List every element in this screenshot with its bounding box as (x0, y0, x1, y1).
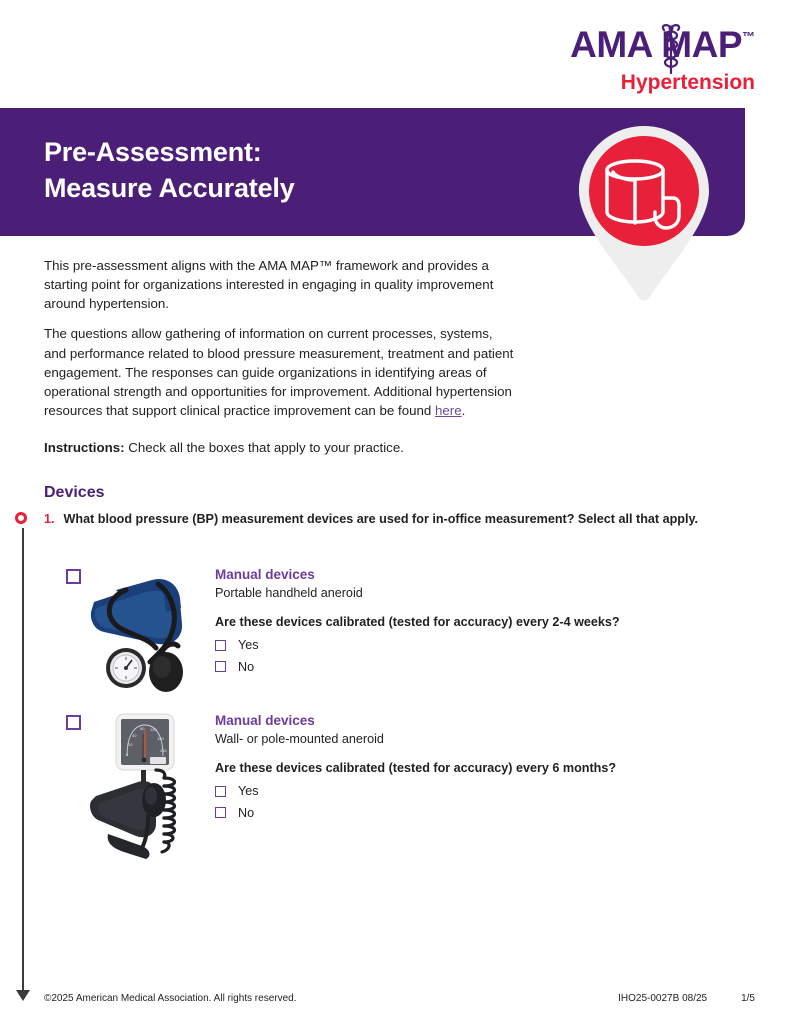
question-1: 1. What blood pressure (BP) measurement … (44, 512, 754, 526)
device-checkbox[interactable] (66, 569, 81, 584)
yes-checkbox[interactable] (215, 640, 226, 651)
intro-paragraph-1: This pre-assessment aligns with the AMA … (44, 256, 516, 313)
device-subtitle: Portable handheld aneroid (215, 585, 756, 601)
instructions-line: Instructions: Check all the boxes that a… (44, 438, 544, 457)
svg-text:20: 20 (128, 742, 133, 747)
question-1-number: 1. (44, 512, 55, 526)
logo-inner: AMA MAP™ Hypertension (535, 26, 755, 96)
device-option-yes[interactable]: Yes (215, 639, 756, 652)
svg-text:40: 40 (132, 733, 137, 738)
intro-paragraph-2: The questions allow gathering of informa… (44, 324, 516, 420)
question-1-text: What blood pressure (BP) measurement dev… (64, 512, 699, 526)
portable-handheld-aneroid-photo (86, 566, 198, 696)
device-details: Manual devices Wall- or pole-mounted ane… (215, 712, 756, 819)
device-subtitle: Wall- or pole-mounted aneroid (215, 731, 756, 747)
svg-text:180: 180 (157, 736, 164, 741)
logo-subtitle: Hypertension (621, 72, 755, 93)
device-title: Manual devices (215, 713, 756, 729)
device-calibration-question: Are these devices calibrated (tested for… (215, 760, 756, 776)
yes-label: Yes (238, 639, 259, 652)
bp-cuff-map-pin-icon (569, 124, 719, 304)
device-calibration-question: Are these devices calibrated (tested for… (215, 614, 756, 630)
no-checkbox[interactable] (215, 661, 226, 672)
footer-copyright: ©2025 American Medical Association. All … (44, 993, 618, 1004)
svg-text:240: 240 (160, 748, 167, 753)
page-footer: ©2025 American Medical Association. All … (44, 993, 755, 1004)
section-heading-devices: Devices (44, 484, 105, 502)
device-title: Manual devices (215, 567, 756, 583)
svg-text:120: 120 (150, 727, 157, 732)
no-label: No (238, 661, 254, 674)
yes-checkbox[interactable] (215, 786, 226, 797)
footer-document-code: IHO25-0027B 08/25 (618, 993, 707, 1004)
here-link[interactable]: here (435, 403, 462, 418)
no-label: No (238, 807, 254, 820)
device-option-row: 02040 80120180 240 (66, 712, 756, 862)
device-option-row: Manual devices Portable handheld aneroid… (66, 566, 756, 696)
device-details: Manual devices Portable handheld aneroid… (215, 566, 756, 673)
instructions-label: Instructions: (44, 440, 125, 455)
page-title: Pre-Assessment: Measure Accurately (44, 134, 295, 207)
device-checkbox[interactable] (66, 715, 81, 730)
device-option-yes[interactable]: Yes (215, 785, 756, 798)
timeline-arrow-icon (16, 990, 30, 1001)
logo-trademark: ™ (742, 29, 755, 44)
device-option-no[interactable]: No (215, 661, 756, 674)
no-checkbox[interactable] (215, 807, 226, 818)
device-option-no[interactable]: No (215, 807, 756, 820)
instructions-text: Check all the boxes that apply to your p… (125, 440, 404, 455)
intro-copy: This pre-assessment aligns with the AMA … (44, 256, 516, 420)
wall-mounted-aneroid-photo: 02040 80120180 240 (86, 712, 198, 862)
intro-paragraph-2-post: . (462, 403, 466, 418)
timeline-start-dot (15, 512, 27, 524)
yes-label: Yes (238, 785, 259, 798)
footer-page-number: 1/5 (741, 993, 755, 1004)
caduceus-icon (654, 23, 688, 75)
timeline-rail (22, 528, 24, 994)
ama-map-logo: AMA MAP™ Hypertension (0, 14, 791, 94)
